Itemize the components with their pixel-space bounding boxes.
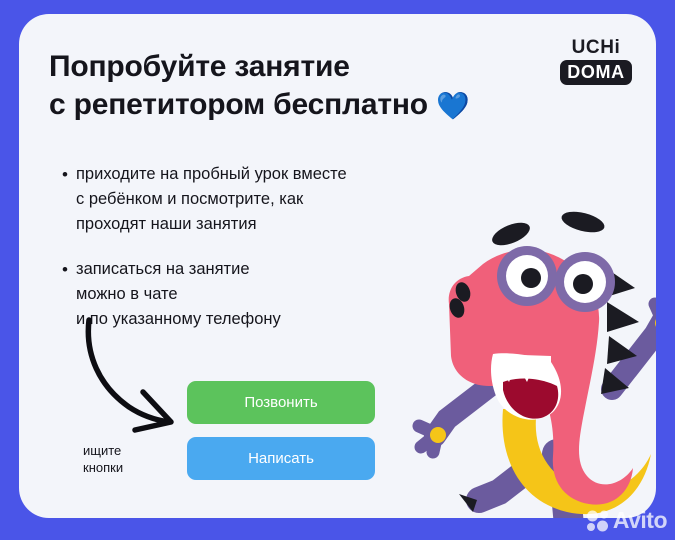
hint-caption-line-2: кнопки (83, 459, 123, 476)
blue-heart-icon: 💙 (436, 91, 469, 121)
bullet-1-line-2: с ребёнком и посмотрите, как (76, 187, 347, 212)
headline: Попробуйте занятие с репетитором бесплат… (49, 48, 569, 125)
bullet-1-line-3: проходят наши занятия (76, 212, 347, 237)
logo-bottom-text: DOMA (564, 63, 628, 81)
list-item-text: приходите на пробный урок вместе с ребён… (76, 162, 347, 237)
hint-caption: ищите кнопки (83, 442, 123, 476)
list-item: • приходите на пробный урок вместе с реб… (62, 162, 462, 237)
bullet-marker-icon: • (62, 257, 76, 332)
ad-banner: UCHi DOMA Попробуйте занятие с репетитор… (0, 0, 675, 540)
headline-line-2-text: с репетитором бесплатно (49, 88, 428, 121)
bullet-2-line-1: записаться на занятие (76, 257, 281, 282)
bullet-2-line-2: можно в чате (76, 282, 281, 307)
avito-dots-icon (586, 510, 610, 532)
logo-pill: DOMA (560, 60, 632, 85)
headline-line-2: с репетитором бесплатно 💙 (49, 86, 569, 124)
curved-arrow-icon (79, 314, 199, 439)
logo-top-text: UCHi (560, 38, 632, 57)
avito-wordmark: Avito (613, 509, 667, 532)
hint-caption-line-1: ищите (83, 442, 123, 459)
uchi-doma-logo: UCHi DOMA (560, 38, 632, 85)
bullet-1-line-1: приходите на пробный урок вместе (76, 162, 347, 187)
call-button[interactable]: Позвонить (187, 381, 375, 424)
headline-line-1: Попробуйте занятие (49, 48, 569, 86)
cta-button-group: Позвонить Написать (187, 381, 375, 480)
write-message-button[interactable]: Написать (187, 437, 375, 480)
avito-watermark: Avito (586, 509, 667, 532)
bullet-marker-icon: • (62, 162, 76, 237)
promo-card: UCHi DOMA Попробуйте занятие с репетитор… (19, 14, 656, 518)
